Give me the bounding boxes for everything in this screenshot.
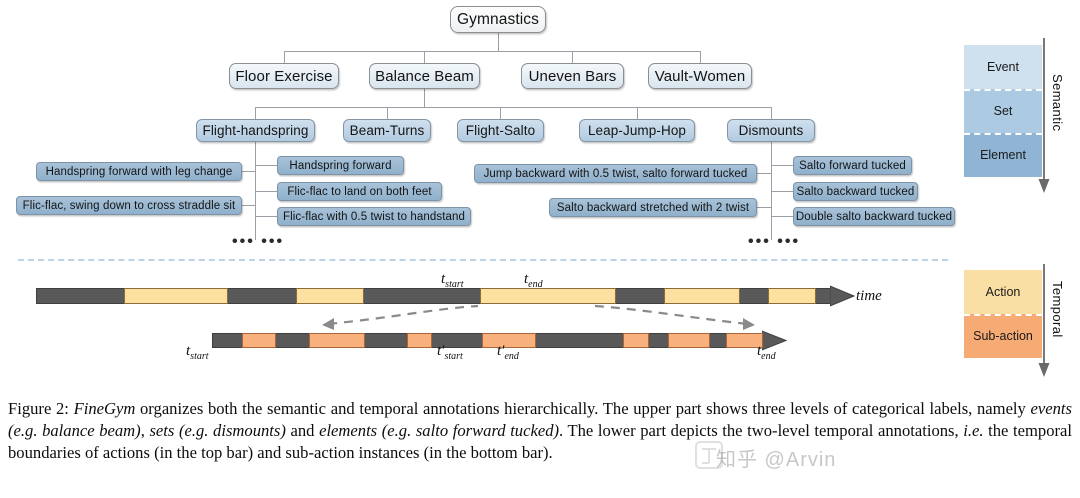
legend-semantic-divider-2 [964,133,1042,135]
node-set-dismounts[interactable]: Dismounts [727,119,815,142]
connector-event-3 [572,51,573,63]
timeline-top-segment-5[interactable] [768,288,816,304]
node-root-gymnastics[interactable]: Gymnastics [450,6,546,33]
node-set-leap-jump-hop[interactable]: Leap-Jump-Hop [579,119,695,142]
caption-text-1: organizes both the semantic and temporal… [135,399,1030,418]
node-element-jump-backward-half-twist-salto[interactable]: Jump backward with 0.5 twist, salto forw… [474,164,757,183]
caption-em-events: events [1031,399,1072,418]
legend-semantic-set: Set [964,89,1042,133]
node-set-flight-salto[interactable]: Flight-Salto [457,119,544,142]
node-label: Handspring forward [289,160,391,172]
timeline-bottom-segment-5[interactable] [623,333,649,348]
legend-label: Action [986,285,1021,299]
connector-handspring-left-1 [241,171,256,172]
timeline-bottom-segment-6[interactable] [668,333,710,348]
caption-eg-balance-beam: (e.g. balance beam) [8,421,141,440]
label-t-end-top: tend [524,271,543,290]
connector-handspring-right-3 [255,216,277,217]
connector-dismounts-left-2 [757,207,772,208]
watermark-text: 知乎 @Arvin [716,443,836,472]
node-element-double-salto-backward-tucked[interactable]: Double salto backward tucked [793,207,955,226]
label-t-start-prime-sub: start [444,351,462,362]
label-t-end-bottom: tend [757,343,776,362]
node-label: Salto backward stretched with 2 twist [557,202,749,214]
connector-dismounts-right-2 [771,191,793,192]
legend-temporal-divider-1 [964,314,1042,316]
node-element-flicflac-half-twist-handstand[interactable]: Flic-flac with 0.5 twist to handstand [277,207,471,226]
connector-balancebeam-down [424,89,425,107]
caption-prefix: Figure 2: [8,399,69,418]
node-element-salto-forward-tucked[interactable]: Salto forward tucked [793,156,912,175]
node-label: Beam-Turns [350,123,425,138]
node-label: Flic-flac with 0.5 twist to handstand [283,211,465,223]
timeline-top-arrowhead-icon [830,283,856,309]
label-t-start-bottom: tstart [186,343,209,362]
connector-dismounts-left-1 [757,173,772,174]
label-t-end-bottom-sub: end [761,351,775,362]
legend-label: Sub-action [973,329,1033,343]
connector-set-4 [637,107,638,119]
legend-semantic-event: Event [964,45,1042,89]
label-time-axis: time [856,288,882,305]
node-element-handspring-forward[interactable]: Handspring forward [277,156,404,175]
caption-em-elements: elements [319,421,377,440]
node-label: Salto backward tucked [797,186,915,198]
caption-eg-dismounts: (e.g. dismounts) [179,421,286,440]
legend-label: Set [994,104,1013,118]
connector-set-2 [387,107,388,119]
node-label: Flight-handspring [202,123,308,138]
node-label: Flic-flac, swing down to cross straddle … [23,200,236,212]
figure-caption: Figure 2: FineGym organizes both the sem… [8,398,1072,464]
node-label: Dismounts [739,123,804,138]
label-t-end-prime: t′end [497,343,519,362]
legend-label: Event [987,60,1019,74]
node-label: Uneven Bars [529,68,617,85]
caption-mid-2: and [286,421,319,440]
node-event-floor-exercise[interactable]: Floor Exercise [229,63,339,89]
label-t-start-bottom-sub: start [190,351,208,362]
caption-em-sets: sets [149,421,174,440]
label-t-end-prime-sub: end [504,351,518,362]
connector-dismounts-right-1 [771,165,793,166]
connector-set-1 [255,107,256,119]
node-label: Leap-Jump-Hop [588,123,686,138]
connector-handspring-right-1 [255,165,277,166]
legend-label: Element [980,148,1026,162]
connector-event-4 [700,51,701,63]
node-label: Jump backward with 0.5 twist, salto forw… [484,168,748,180]
node-label: Handspring forward with leg change [46,166,233,178]
node-event-vault-women[interactable]: Vault-Women [648,63,752,89]
label-t-start-top: tstart [441,271,464,290]
caption-eg-salto: (e.g. salto forward tucked) [382,421,559,440]
legend-temporal-action: Action [964,270,1042,314]
node-event-balance-beam[interactable]: Balance Beam [369,63,480,89]
node-label: Floor Exercise [235,68,332,85]
node-element-salto-backward-tucked[interactable]: Salto backward tucked [793,182,918,201]
node-element-flicflac-straddle-sit[interactable]: Flic-flac, swing down to cross straddle … [16,196,242,215]
node-label: Flic-flac to land on both feet [287,186,431,198]
connector-handspring-left-2 [241,205,256,206]
timeline-top-segment-1[interactable] [124,288,228,304]
caption-em-finegym: FineGym [74,399,136,418]
connector-event-2 [424,51,425,63]
node-event-uneven-bars[interactable]: Uneven Bars [521,63,624,89]
panel-separator [18,259,948,261]
node-element-salto-backward-stretched-2-twist[interactable]: Salto backward stretched with 2 twist [549,198,757,217]
node-element-flicflac-both-feet[interactable]: Flic-flac to land on both feet [277,182,442,201]
connector-set-3 [500,107,501,119]
node-label: Gymnastics [457,11,539,29]
timeline-bottom-segment-1[interactable] [242,333,276,348]
node-set-beam-turns[interactable]: Beam-Turns [343,119,431,142]
legend-semantic-divider-1 [964,89,1042,91]
timeline-bottom-segment-2[interactable] [309,333,365,348]
label-t-start-top-sub: start [445,279,463,290]
node-set-flight-handspring[interactable]: Flight-handspring [196,119,315,142]
label-t-end-top-sub: end [528,279,542,290]
legend-temporal-axis-label: Temporal [1050,281,1065,338]
node-label: Flight-Salto [466,123,535,138]
timeline-bottom-segment-3[interactable] [407,333,432,348]
connector-handspring-right-2 [255,191,277,192]
ellipsis-dismounts: ••• ••• [748,234,800,250]
label-t-start-prime: t′start [437,343,463,362]
connector-set-bus [255,107,771,108]
node-label: Salto forward tucked [799,160,906,172]
node-element-handspring-forward-leg-change[interactable]: Handspring forward with leg change [36,162,242,181]
ellipsis-handspring: ••• ••• [232,234,284,250]
legend-semantic-element: Element [964,133,1042,177]
node-label: Double salto backward tucked [796,211,952,223]
caption-em-ie: i.e. [963,421,983,440]
connector-dismounts-right-3 [771,216,793,217]
connector-event-bus [284,51,701,52]
node-label: Balance Beam [375,68,474,85]
legend-semantic-axis-label: Semantic [1050,74,1065,131]
node-label: Vault-Women [655,68,746,85]
connector-event-1 [284,51,285,63]
connector-set-5 [771,107,772,119]
connector-root-down [498,33,499,51]
caption-text-2: . The lower part depicts the two-level t… [559,421,963,440]
legend-temporal-subaction: Sub-action [964,314,1042,358]
